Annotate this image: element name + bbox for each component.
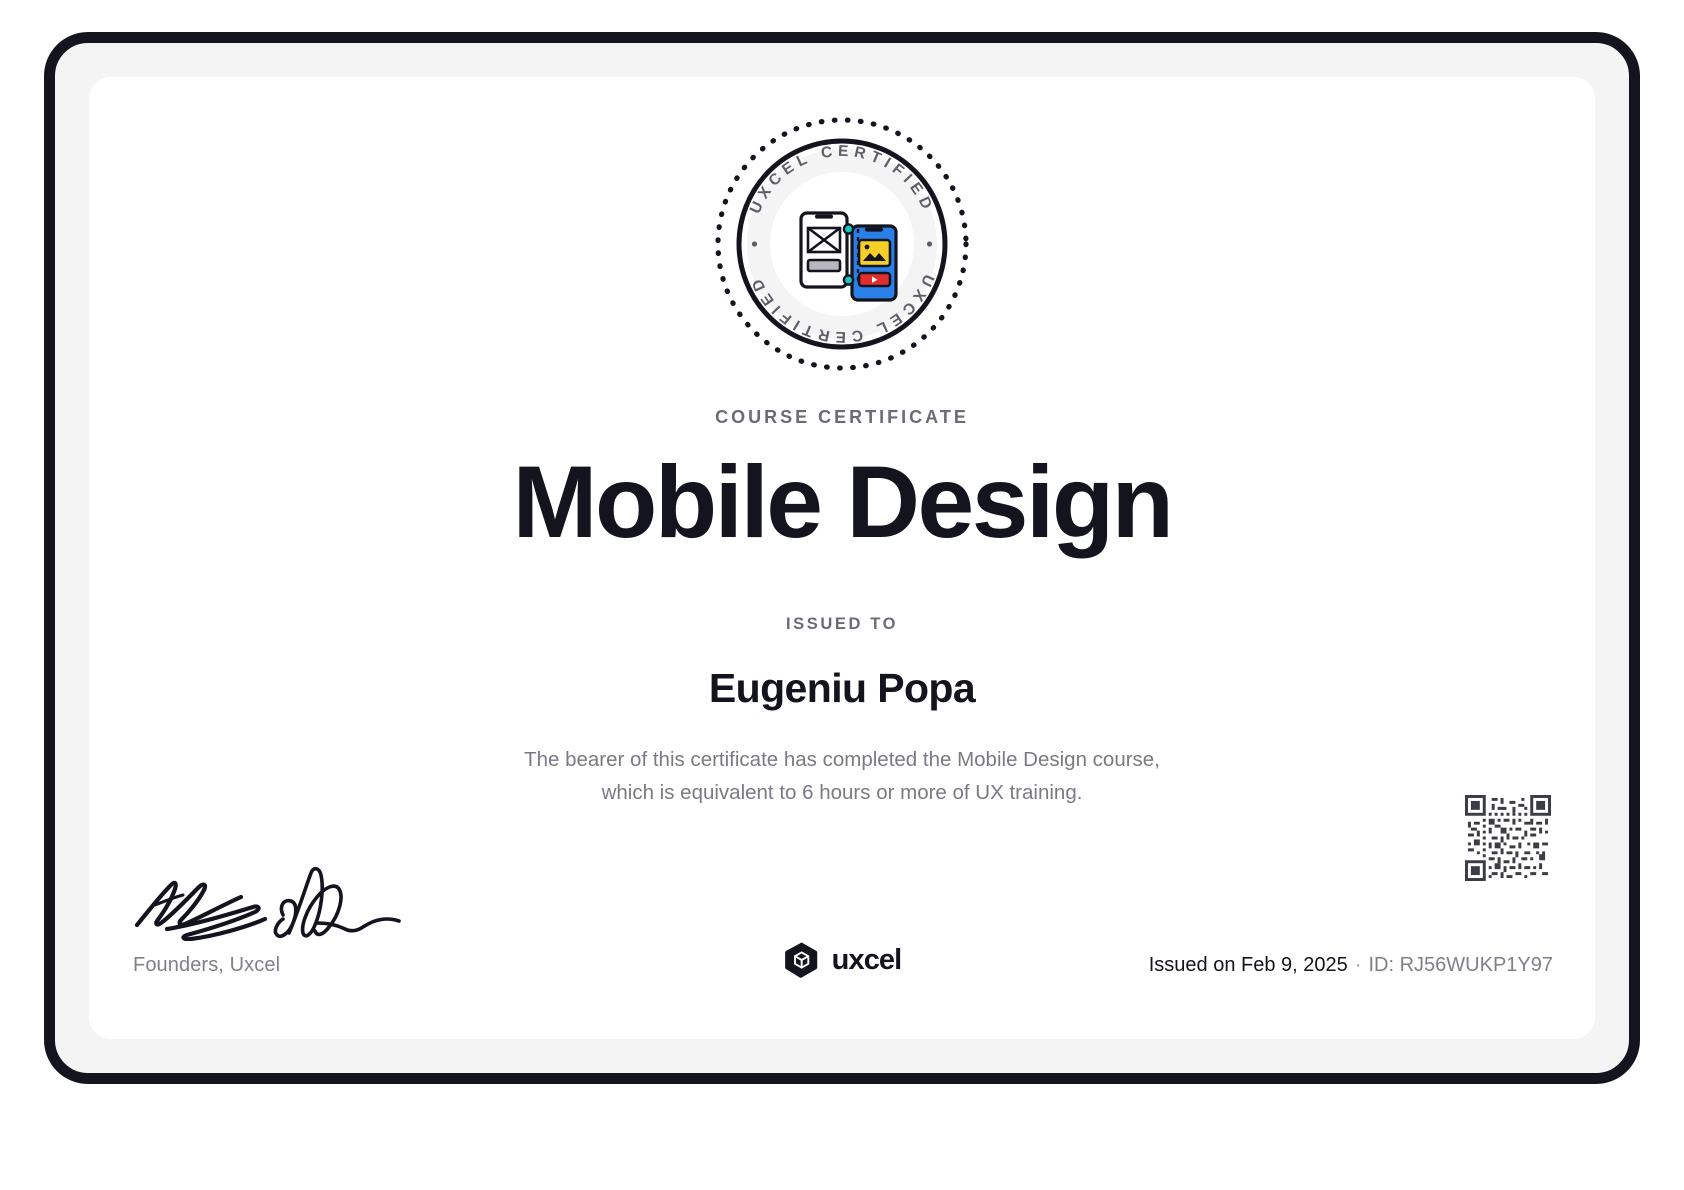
uxcel-wordmark: uxcel [832,946,902,975]
page-title: Mobile Design [89,449,1595,556]
badge-bullet-right [927,241,932,246]
description-line-1: The bearer of this certificate has compl… [89,743,1595,776]
certificate-id-label: ID: [1368,954,1394,976]
certificate-id-value: RJ56WUKP1Y97 [1400,954,1553,976]
certificate-frame: UXCEL CERTIFIED UXCEL CERTIFIED [44,32,1640,1084]
certificate-description: The bearer of this certificate has compl… [89,743,1595,809]
uxcel-certified-badge: UXCEL CERTIFIED UXCEL CERTIFIED [711,113,973,375]
uxcel-logo-icon [783,941,821,979]
recipient-name: Eugeniu Popa [89,665,1595,712]
issue-separator: · [1355,954,1362,976]
verification-qr-code [1465,795,1551,881]
kicker-course-certificate: COURSE CERTIFICATE [89,407,1595,428]
label-issued-to: ISSUED TO [89,615,1595,634]
signature-role-label: Founders, Uxcel [133,954,280,977]
certificate-body: UXCEL CERTIFIED UXCEL CERTIFIED [89,77,1595,1039]
uxcel-brand: uxcel [783,941,902,979]
founders-signatures [131,857,431,941]
badge-bullet-left [752,241,757,246]
description-line-2: which is equivalent to 6 hours or more o… [89,776,1595,809]
issued-on-date: Issued on Feb 9, 2025 [1149,954,1348,976]
issue-info: Issued on Feb 9, 2025·ID: RJ56WUKP1Y97 [1149,954,1553,977]
